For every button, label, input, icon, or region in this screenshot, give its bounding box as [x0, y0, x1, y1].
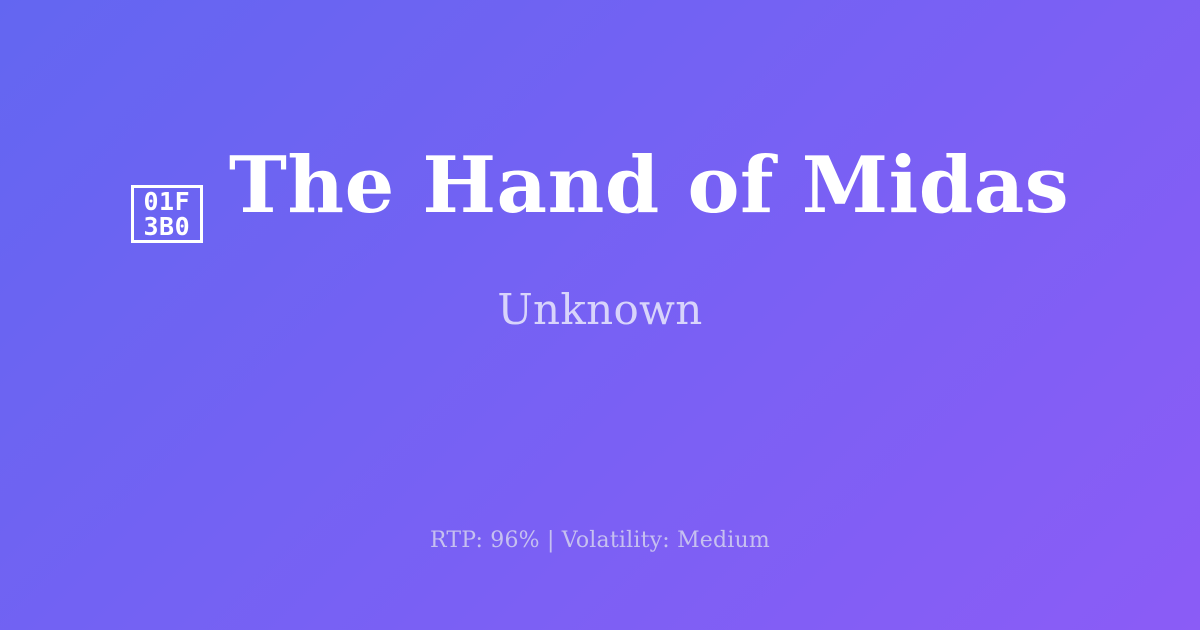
og-card: 01F 3B0 The Hand of Midas Unknown RTP: 9… — [0, 0, 1200, 630]
page-subtitle: Unknown — [497, 287, 702, 333]
tofu-codepoint-top: 01F — [143, 189, 190, 214]
card-footer: RTP: 96% | Volatility: Medium — [0, 528, 1200, 554]
title-row: 01F 3B0 The Hand of Midas — [131, 145, 1069, 245]
card-body: 01F 3B0 The Hand of Midas Unknown — [0, 0, 1200, 478]
tofu-codepoint-bottom: 3B0 — [143, 214, 190, 239]
page-title: The Hand of Midas — [229, 145, 1069, 227]
slot-machine-icon: 01F 3B0 — [131, 185, 203, 243]
game-meta-line: RTP: 96% | Volatility: Medium — [430, 528, 770, 554]
